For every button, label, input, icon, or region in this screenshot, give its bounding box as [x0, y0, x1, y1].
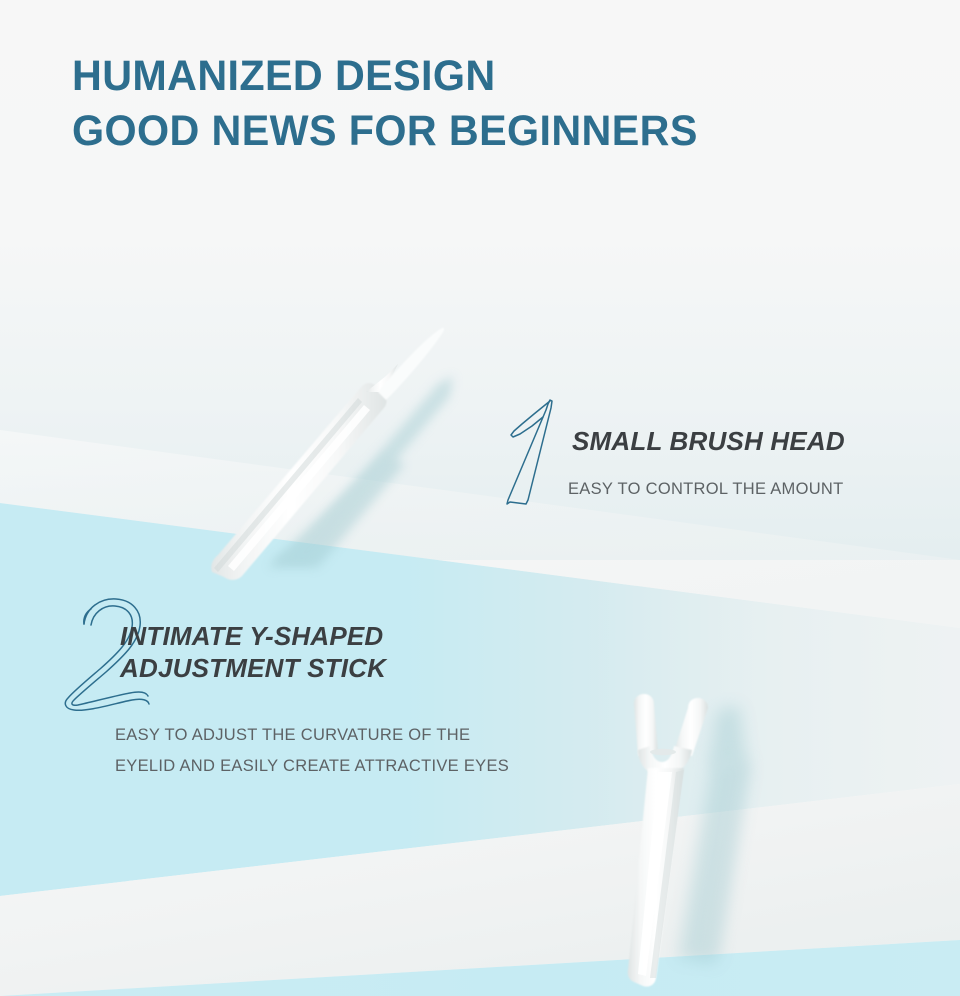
feature-1-subtitle: EASY TO CONTROL THE AMOUNT [568, 474, 844, 504]
feature-1-title: SMALL BRUSH HEAD [572, 425, 845, 457]
feature-2-subtitle-line-2: EYELID AND EASILY CREATE ATTRACTIVE EYES [115, 751, 509, 782]
promo-page: HUMANIZED DESIGN GOOD NEWS FOR BEGINNERS… [0, 0, 960, 996]
feature-2-subtitle-block: EASY TO ADJUST THE CURVATURE OF THE EYEL… [115, 720, 509, 782]
page-headline: HUMANIZED DESIGN GOOD NEWS FOR BEGINNERS [72, 52, 912, 155]
brush-applicator-stick [150, 300, 570, 600]
headline-line-1: HUMANIZED DESIGN [72, 52, 878, 100]
feature-2-title-block: INTIMATE Y-SHAPED ADJUSTMENT STICK [120, 620, 386, 684]
headline-line-2: GOOD NEWS FOR BEGINNERS [72, 107, 878, 155]
y-stick-slot [650, 749, 676, 755]
feature-2-subtitle-line-1: EASY TO ADJUST THE CURVATURE OF THE [115, 720, 509, 751]
y-shaped-adjustment-stick [600, 660, 930, 996]
feature-2-title-line-2: ADJUSTMENT STICK [120, 652, 386, 684]
feature-2-title-line-1: INTIMATE Y-SHAPED [120, 620, 386, 652]
